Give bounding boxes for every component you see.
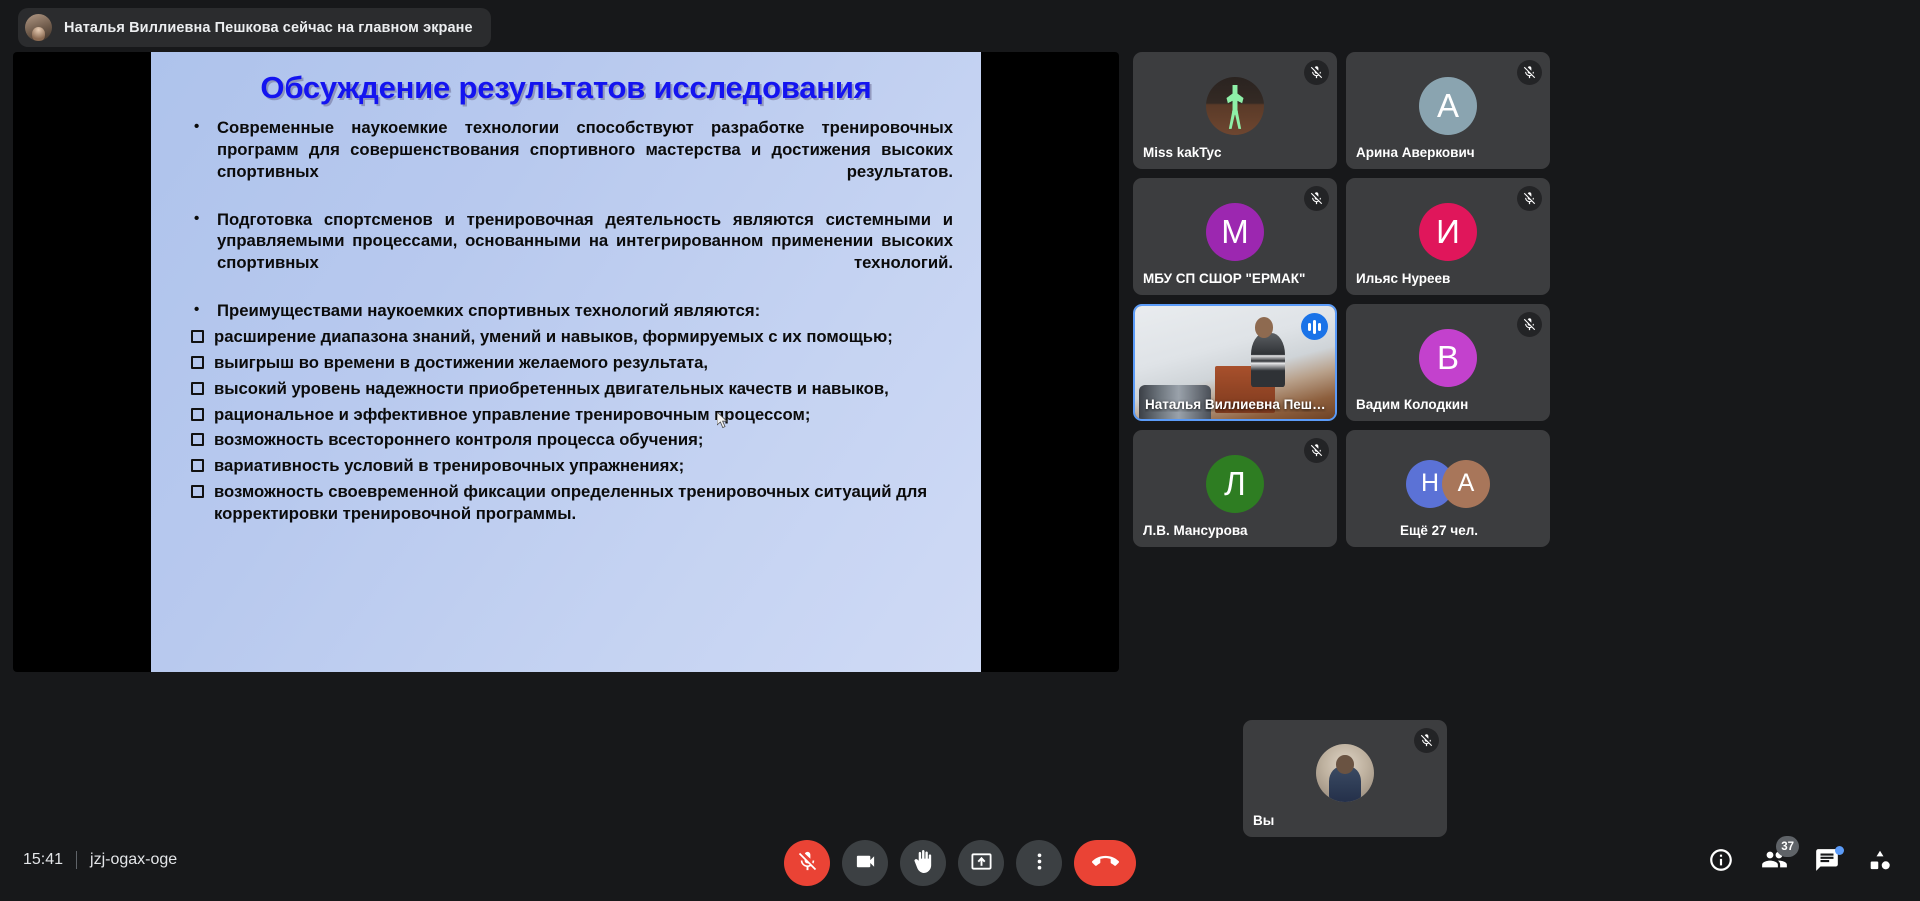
bullet-square-icon (191, 408, 204, 421)
meeting-app-window: Наталья Виллиевна Пешкова сейчас на глав… (0, 0, 1920, 901)
present-icon (970, 850, 993, 876)
avatar: Л (1206, 455, 1264, 513)
slide-bullet-item: рациональное и эффективное управление тр… (191, 404, 953, 426)
participant-tile-lv-mansurova[interactable]: Л Л.В. Мансурова (1133, 430, 1337, 547)
bullet-dot-icon: • (191, 117, 207, 205)
bullet-dot-icon: • (191, 209, 207, 297)
leave-call-button[interactable] (1074, 840, 1136, 886)
participants-count-badge: 37 (1776, 836, 1799, 857)
slide-title: Обсуждение результатов исследования (165, 71, 967, 105)
avatar: А (1442, 460, 1490, 508)
avatar-initial: И (1436, 213, 1460, 251)
mic-off-icon (1414, 728, 1439, 753)
microphone-off-button[interactable] (784, 840, 830, 886)
bullet-text: рациональное и эффективное управление тр… (214, 404, 953, 426)
right-toolbar: 37 (1706, 847, 1895, 877)
slide-bullet-item: расширение диапазона знаний, умений и на… (191, 326, 953, 348)
chat-unread-dot (1835, 846, 1844, 855)
bullet-square-icon (191, 356, 204, 369)
bullet-square-icon (191, 382, 204, 395)
participant-name: Л.В. Мансурова (1143, 523, 1248, 538)
avatar: М (1206, 203, 1264, 261)
mic-off-icon (1304, 60, 1329, 85)
more-vertical-icon (1028, 850, 1051, 876)
more-options-button[interactable] (1016, 840, 1062, 886)
avatar-initial: М (1221, 213, 1249, 251)
call-controls (784, 840, 1136, 886)
shared-screen-stage[interactable]: Обсуждение результатов исследования • Со… (13, 52, 1119, 672)
bullet-text: вариативность условий в тренировочных уп… (214, 455, 953, 477)
chat-button[interactable] (1812, 847, 1842, 877)
participant-row: Наталья Виллиевна Пешкова В Вадим Колодк… (1133, 304, 1907, 421)
activities-button[interactable] (1865, 847, 1895, 877)
bottom-toolbar: 15:41 jzj-ogax-oge (0, 825, 1920, 901)
bullet-text: Современные наукоемкие технологии способ… (217, 117, 953, 205)
participant-name: Наталья Виллиевна Пешкова (1145, 397, 1331, 412)
hand-icon (912, 850, 935, 876)
mic-off-icon (1517, 312, 1542, 337)
bullet-text: возможность всестороннего контроля проце… (214, 429, 953, 451)
avatar: В (1419, 329, 1477, 387)
participant-tile-miss-kaktyc[interactable]: Miss kakTyc (1133, 52, 1337, 169)
participants-button[interactable]: 37 (1759, 847, 1789, 877)
slide-bullet-item: возможность всестороннего контроля проце… (191, 429, 953, 451)
camera-button[interactable] (842, 840, 888, 886)
avatar (1206, 77, 1264, 135)
bullet-square-icon (191, 459, 204, 472)
mic-off-icon (796, 850, 819, 876)
participant-name: Арина Аверкович (1356, 145, 1475, 160)
slide-bullet-item: возможность своевременной фиксации опред… (191, 481, 953, 525)
participant-tile-ilyas-nureev[interactable]: И Ильяс Нуреев (1346, 178, 1550, 295)
speaking-indicator-icon (1301, 313, 1328, 340)
camera-icon (854, 850, 877, 876)
bullet-text: Преимуществами наукоемких спортивных тех… (217, 300, 953, 322)
mic-off-icon (1517, 60, 1542, 85)
participant-tile-more-people[interactable]: Н А Ещё 27 чел. (1346, 430, 1550, 547)
present-screen-button[interactable] (958, 840, 1004, 886)
participant-row: М МБУ СП СШОР "ЕРМАК" И Ильяс Нуреев (1133, 178, 1907, 295)
avatar: И (1419, 203, 1477, 261)
participant-tile-vadim-kolodkin[interactable]: В Вадим Колодкин (1346, 304, 1550, 421)
participant-tile-self[interactable]: Вы (1243, 720, 1447, 837)
mic-off-icon (1304, 186, 1329, 211)
participant-row: Л Л.В. Мансурова Н А Ещё 27 чел. (1133, 430, 1907, 547)
slide-bullet-item: высокий уровень надежности приобретенных… (191, 378, 953, 400)
divider (76, 851, 77, 869)
activities-icon (1867, 847, 1893, 878)
bullet-square-icon (191, 330, 204, 343)
slide-bullet-item: • Подготовка спортсменов и тренировочная… (191, 209, 953, 297)
participant-tile-arina-averkovich[interactable]: А Арина Аверкович (1346, 52, 1550, 169)
info-icon (1708, 847, 1734, 878)
bullet-text: выигрыш во времени в достижении желаемог… (214, 352, 953, 374)
mic-off-icon (1304, 438, 1329, 463)
current-time: 15:41 (23, 851, 63, 869)
avatar-initial: А (1458, 469, 1475, 498)
participant-grid: Miss kakTyc А Арина Аверкович М (1133, 52, 1907, 556)
meeting-code: jzj-ogax-oge (90, 851, 177, 869)
participant-name: МБУ СП СШОР "ЕРМАК" (1143, 271, 1305, 286)
raise-hand-button[interactable] (900, 840, 946, 886)
more-participants-label: Ещё 27 чел. (1346, 523, 1532, 538)
participant-name: Ильяс Нуреев (1356, 271, 1450, 286)
presenter-banner-label: Наталья Виллиевна Пешкова сейчас на глав… (64, 20, 473, 36)
slide-bullet-item: • Современные наукоемкие технологии спос… (191, 117, 953, 205)
presenter-banner: Наталья Виллиевна Пешкова сейчас на глав… (18, 8, 491, 47)
slide-bullet-item: выигрыш во времени в достижении желаемог… (191, 352, 953, 374)
presentation-slide: Обсуждение результатов исследования • Со… (151, 52, 981, 672)
participant-tile-mbu-sp-sshor-ermak[interactable]: М МБУ СП СШОР "ЕРМАК" (1133, 178, 1337, 295)
avatar-stack: Н А (1406, 460, 1490, 508)
avatar-initial: Н (1421, 469, 1439, 498)
bullet-text: Подготовка спортсменов и тренировочная д… (217, 209, 953, 297)
bullet-text: расширение диапазона знаний, умений и на… (214, 326, 953, 348)
bullet-dot-icon: • (191, 300, 207, 322)
avatar-initial: Л (1224, 465, 1246, 503)
presenter-avatar (25, 14, 52, 41)
avatar-initial: В (1437, 339, 1459, 377)
bullet-text: высокий уровень надежности приобретенных… (214, 378, 953, 400)
meeting-info: 15:41 jzj-ogax-oge (23, 851, 177, 869)
meeting-details-button[interactable] (1706, 847, 1736, 877)
slide-bullet-list: • Современные наукоемкие технологии спос… (165, 117, 967, 525)
slide-bullet-item: • Преимуществами наукоемких спортивных т… (191, 300, 953, 322)
hangup-icon (1092, 848, 1119, 878)
mic-off-icon (1517, 186, 1542, 211)
participant-name: Вадим Колодкин (1356, 397, 1468, 412)
avatar: А (1419, 77, 1477, 135)
avatar-initial: А (1437, 87, 1459, 125)
bullet-square-icon (191, 433, 204, 446)
bullet-text: возможность своевременной фиксации опред… (214, 481, 953, 525)
slide-bullet-item: вариативность условий в тренировочных уп… (191, 455, 953, 477)
participant-name: Miss kakTyc (1143, 145, 1222, 160)
participant-tile-natalya-peshkova[interactable]: Наталья Виллиевна Пешкова (1133, 304, 1337, 421)
participant-row: Miss kakTyc А Арина Аверкович (1133, 52, 1907, 169)
bullet-square-icon (191, 485, 204, 498)
avatar (1316, 744, 1374, 802)
